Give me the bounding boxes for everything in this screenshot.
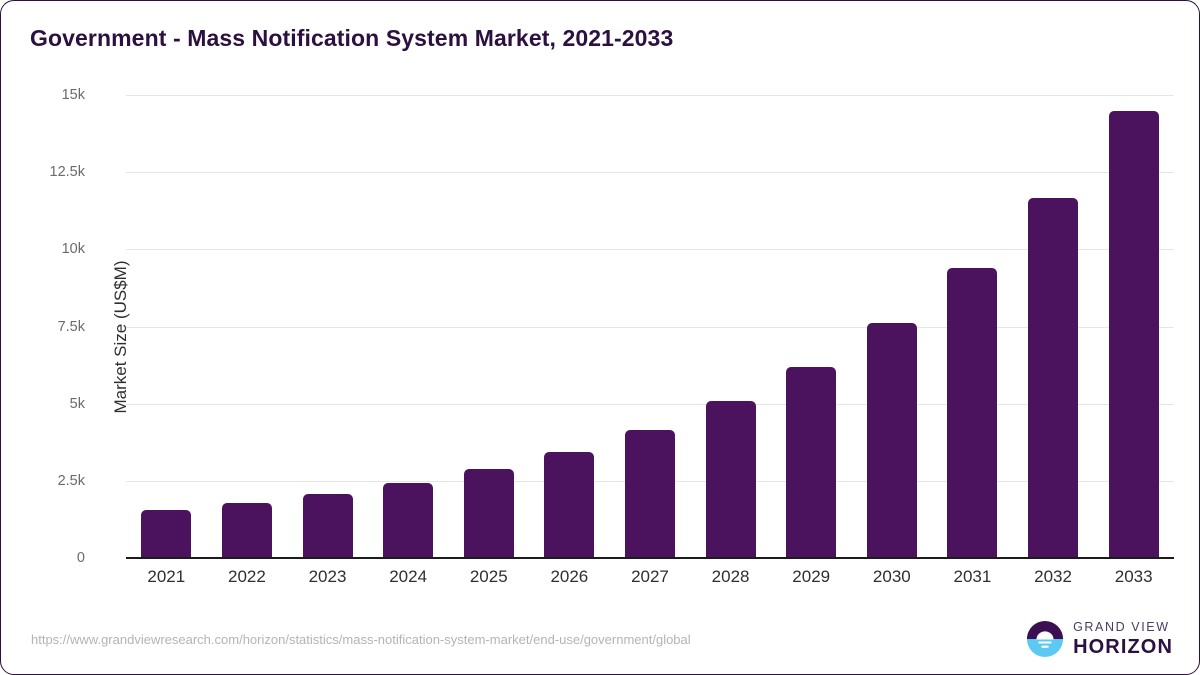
x-axis-tick-label: 2023 bbox=[309, 567, 347, 587]
bar[interactable] bbox=[464, 469, 514, 558]
bar-group[interactable]: 2031 bbox=[932, 95, 1013, 558]
x-axis-line bbox=[126, 557, 1174, 559]
bar-group[interactable]: 2025 bbox=[448, 95, 529, 558]
bar[interactable] bbox=[867, 323, 917, 558]
x-axis-tick-label: 2025 bbox=[470, 567, 508, 587]
x-axis-tick-label: 2021 bbox=[147, 567, 185, 587]
x-axis-tick-label: 2030 bbox=[873, 567, 911, 587]
x-axis-tick-label: 2032 bbox=[1034, 567, 1072, 587]
bar[interactable] bbox=[625, 430, 675, 558]
y-axis-tick-label: 7.5k bbox=[58, 319, 85, 335]
x-axis-tick-label: 2033 bbox=[1115, 567, 1153, 587]
bar-group[interactable]: 2029 bbox=[771, 95, 852, 558]
bar-group[interactable]: 2024 bbox=[368, 95, 449, 558]
x-axis-tick-label: 2027 bbox=[631, 567, 669, 587]
bar-group[interactable]: 2033 bbox=[1093, 95, 1174, 558]
bar[interactable] bbox=[786, 367, 836, 558]
bar[interactable] bbox=[141, 510, 191, 558]
bar-series: 2021202220232024202520262027202820292030… bbox=[126, 95, 1174, 558]
bar-group[interactable]: 2021 bbox=[126, 95, 207, 558]
source-url: https://www.grandviewresearch.com/horizo… bbox=[31, 632, 691, 647]
y-axis-tick-label: 5k bbox=[70, 396, 85, 412]
bar-group[interactable]: 2026 bbox=[529, 95, 610, 558]
bar-group[interactable]: 2030 bbox=[852, 95, 933, 558]
bar[interactable] bbox=[1028, 198, 1078, 558]
bar-group[interactable]: 2022 bbox=[207, 95, 288, 558]
bar[interactable] bbox=[303, 494, 353, 558]
x-axis-tick-label: 2029 bbox=[792, 567, 830, 587]
x-axis-tick-label: 2026 bbox=[550, 567, 588, 587]
y-axis-tick-label: 12.5k bbox=[50, 164, 85, 180]
y-axis-tick-label: 15k bbox=[62, 87, 85, 103]
y-axis-tick-label: 2.5k bbox=[58, 473, 85, 489]
bar[interactable] bbox=[706, 401, 756, 558]
bar-group[interactable]: 2027 bbox=[610, 95, 691, 558]
page-title: Government - Mass Notification System Ma… bbox=[30, 25, 673, 52]
bar-group[interactable]: 2032 bbox=[1013, 95, 1094, 558]
horizon-logo-icon bbox=[1026, 620, 1064, 658]
bar-group[interactable]: 2028 bbox=[690, 95, 771, 558]
chart-figure: Government - Mass Notification System Ma… bbox=[0, 0, 1200, 675]
bar[interactable] bbox=[383, 483, 433, 558]
x-axis-tick-label: 2022 bbox=[228, 567, 266, 587]
plot-area: Market Size (US$M) 02.5k5k7.5k10k12.5k15… bbox=[126, 95, 1174, 558]
x-axis-tick-label: 2028 bbox=[712, 567, 750, 587]
bar[interactable] bbox=[947, 268, 997, 558]
y-axis-tick-label: 10k bbox=[62, 241, 85, 257]
bar[interactable] bbox=[1109, 111, 1159, 558]
x-axis-tick-label: 2024 bbox=[389, 567, 427, 587]
brand-logo: GRAND VIEW HORIZON bbox=[1026, 620, 1173, 658]
y-axis-tick-label: 0 bbox=[77, 550, 85, 566]
x-axis-tick-label: 2031 bbox=[954, 567, 992, 587]
logo-line-grand-view: GRAND VIEW bbox=[1073, 621, 1173, 634]
bar[interactable] bbox=[222, 503, 272, 558]
logo-wordmark: GRAND VIEW HORIZON bbox=[1073, 621, 1173, 658]
logo-line-horizon: HORIZON bbox=[1073, 637, 1173, 657]
bar[interactable] bbox=[544, 452, 594, 558]
bar-group[interactable]: 2023 bbox=[287, 95, 368, 558]
